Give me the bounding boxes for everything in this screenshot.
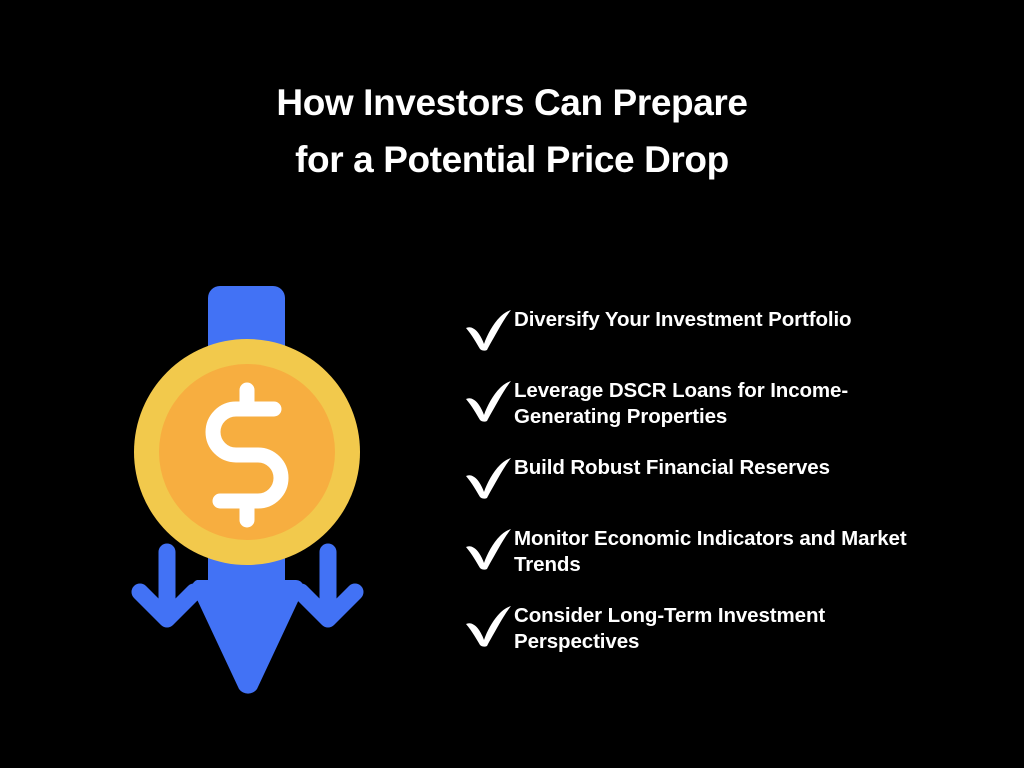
list-item: Consider Long-Term Investment Perspectiv… <box>462 602 962 654</box>
checkmark-icon <box>462 379 514 423</box>
right-down-arrow-icon <box>301 552 355 619</box>
list-item: Build Robust Financial Reserves <box>462 454 962 500</box>
checklist-item-label: Diversify Your Investment Portfolio <box>514 306 944 333</box>
checklist-item-label: Monitor Economic Indicators and Market T… <box>514 525 944 577</box>
checklist: Diversify Your Investment Portfolio Leve… <box>462 306 962 654</box>
infographic-canvas: How Investors Can Prepare for a Potentia… <box>0 0 1024 768</box>
falling-money-icon <box>120 270 390 710</box>
page-title-line-2: for a Potential Price Drop <box>0 131 1024 188</box>
checkmark-icon <box>462 308 514 352</box>
list-item: Diversify Your Investment Portfolio <box>462 306 962 352</box>
checklist-item-label: Build Robust Financial Reserves <box>514 454 944 481</box>
dollar-sign-icon <box>213 390 281 520</box>
checkmark-icon <box>462 527 514 571</box>
checklist-item-label: Consider Long-Term Investment Perspectiv… <box>514 602 944 654</box>
checklist-item-label: Leverage DSCR Loans for Income-Generatin… <box>514 377 944 429</box>
page-title-line-1: How Investors Can Prepare <box>0 74 1024 131</box>
list-item: Leverage DSCR Loans for Income-Generatin… <box>462 377 962 429</box>
checkmark-icon <box>462 456 514 500</box>
page-title: How Investors Can Prepare for a Potentia… <box>0 74 1024 188</box>
checkmark-icon <box>462 604 514 648</box>
list-item: Monitor Economic Indicators and Market T… <box>462 525 962 577</box>
left-down-arrow-icon <box>140 552 194 619</box>
